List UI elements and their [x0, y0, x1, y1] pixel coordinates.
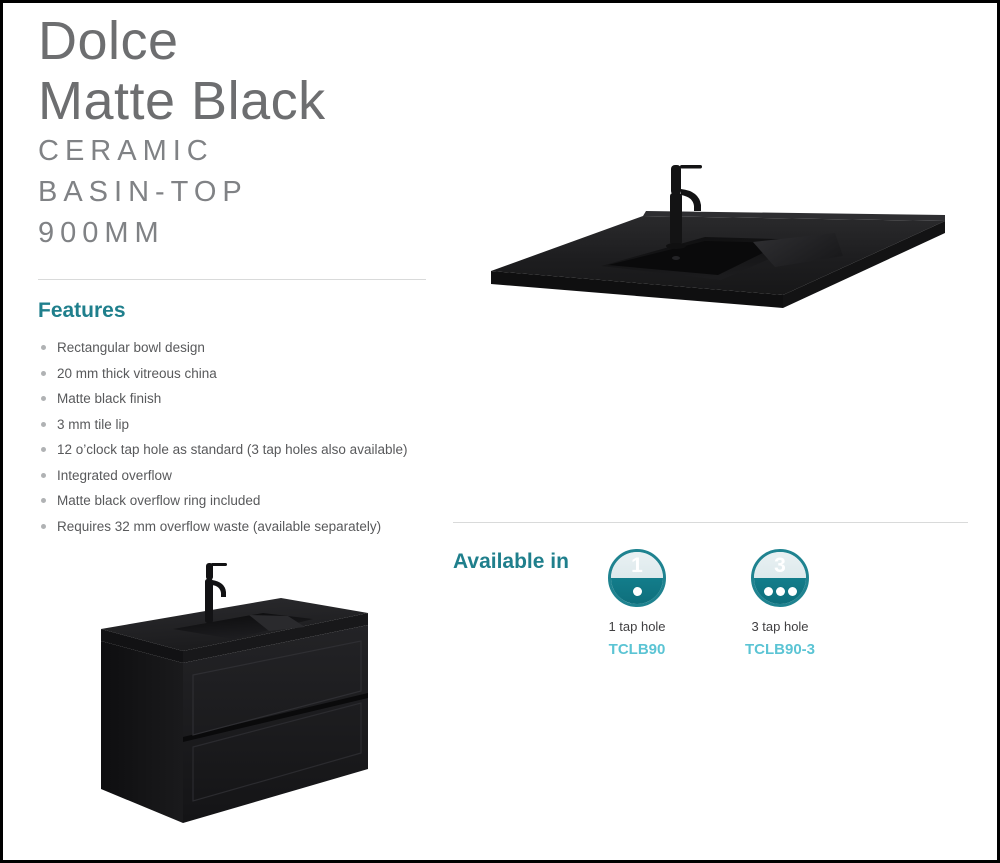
feature-item: Matte black overflow ring included	[38, 492, 438, 509]
vanity-unit-product-image	[73, 551, 403, 851]
feature-item: Requires 32 mm overflow waste (available…	[38, 518, 438, 535]
tap-hole-count: 1	[611, 553, 663, 579]
tap-hole-badge-3-icon: 3	[751, 549, 809, 607]
feature-text: Matte black overflow ring included	[57, 493, 260, 508]
features-list: Rectangular bowl design 20 mm thick vitr…	[38, 339, 438, 543]
bullet-icon	[41, 396, 46, 401]
bullet-icon	[41, 524, 46, 529]
feature-item: Integrated overflow	[38, 467, 438, 484]
feature-item: 12 o’clock tap hole as standard (3 tap h…	[38, 441, 438, 458]
feature-text: 20 mm thick vitreous china	[57, 366, 217, 381]
tap-hole-dot-icon	[633, 587, 642, 596]
product-title-line-2: Matte Black	[38, 71, 438, 131]
bullet-icon	[41, 345, 46, 350]
product-code: TCLB90	[577, 641, 697, 658]
tap-hole-dot-icon	[764, 587, 773, 596]
tap-hole-option-3: 3 3 tap hole TCLB90-3	[720, 549, 840, 658]
feature-item: 3 mm tile lip	[38, 416, 438, 433]
feature-text: Requires 32 mm overflow waste (available…	[57, 519, 381, 534]
bullet-icon	[41, 447, 46, 452]
bullet-icon	[41, 371, 46, 376]
feature-item: 20 mm thick vitreous china	[38, 365, 438, 382]
features-heading: Features	[38, 299, 126, 323]
tap-hole-option-1: 1 1 tap hole TCLB90	[577, 549, 697, 658]
product-spec-sheet: Dolce Matte Black CERAMIC BASIN-TOP 900M…	[0, 0, 1000, 863]
bullet-icon	[41, 473, 46, 478]
product-subtitle-line-3: 900MM	[38, 213, 438, 254]
tap-hole-badge-1-icon: 1	[608, 549, 666, 607]
tap-hole-dot-icon	[788, 587, 797, 596]
feature-text: 3 mm tile lip	[57, 417, 129, 432]
product-subtitle-line-1: CERAMIC	[38, 131, 438, 172]
tap-hole-dots	[754, 578, 806, 604]
available-in-heading: Available in	[453, 550, 569, 574]
feature-item: Matte black finish	[38, 390, 438, 407]
bullet-icon	[41, 498, 46, 503]
tap-hole-caption: 3 tap hole	[720, 619, 840, 634]
tap-hole-caption: 1 tap hole	[577, 619, 697, 634]
feature-text: 12 o’clock tap hole as standard (3 tap h…	[57, 442, 407, 457]
divider-above-features	[38, 279, 426, 280]
tap-hole-dots	[611, 578, 663, 604]
feature-item: Rectangular bowl design	[38, 339, 438, 356]
feature-text: Integrated overflow	[57, 468, 172, 483]
product-code: TCLB90-3	[720, 641, 840, 658]
basin-top-product-image	[483, 143, 953, 323]
tap-hole-dot-icon	[776, 587, 785, 596]
product-title-block: Dolce Matte Black CERAMIC BASIN-TOP 900M…	[38, 11, 438, 254]
feature-text: Rectangular bowl design	[57, 340, 205, 355]
feature-text: Matte black finish	[57, 391, 161, 406]
bullet-icon	[41, 422, 46, 427]
product-subtitle-line-2: BASIN-TOP	[38, 172, 438, 213]
tap-hole-count: 3	[754, 553, 806, 579]
divider-above-available	[453, 522, 968, 523]
product-title-line-1: Dolce	[38, 11, 438, 71]
